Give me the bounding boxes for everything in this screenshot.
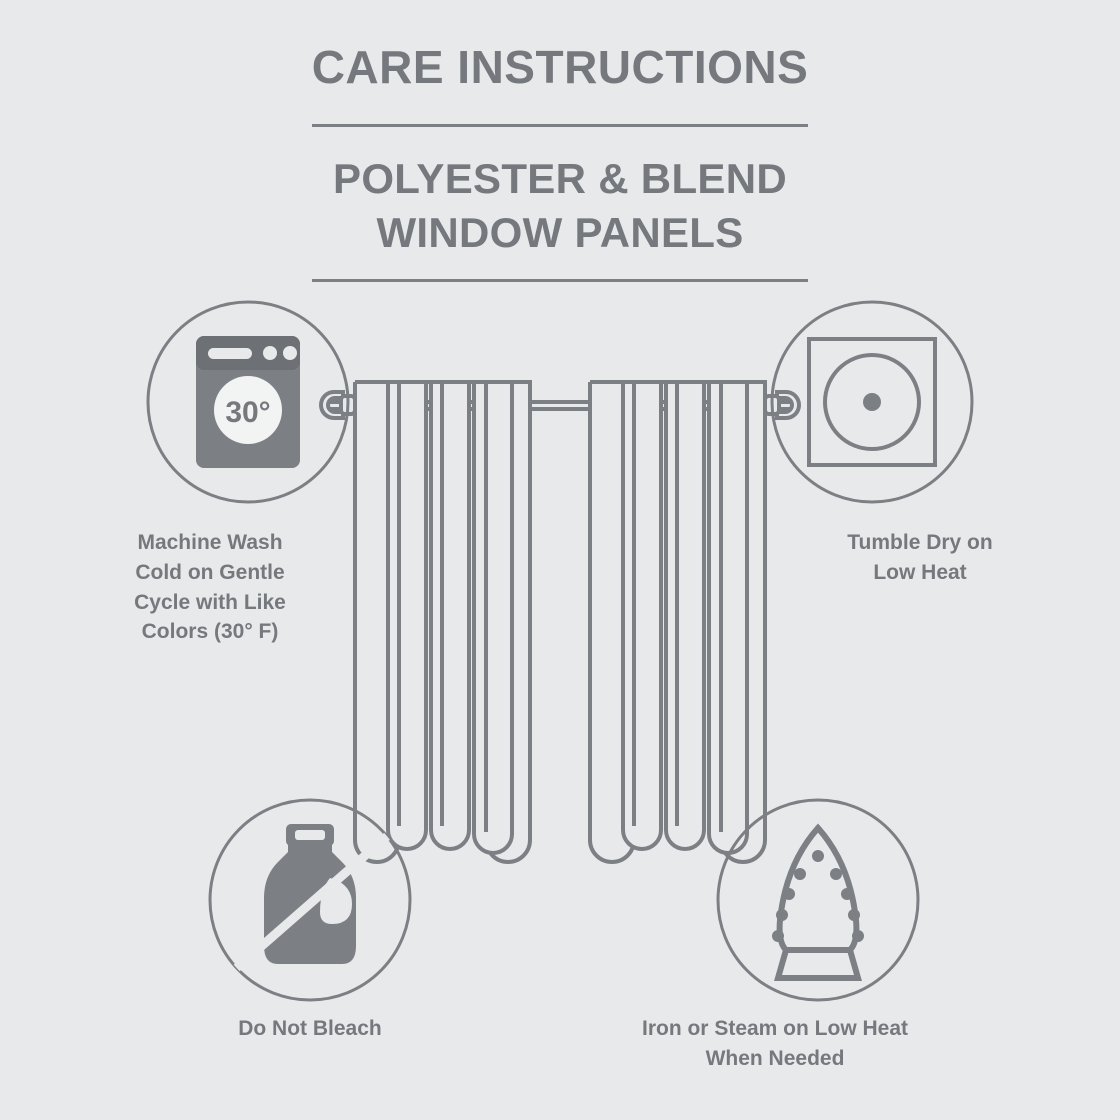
care-instructions-infographic: CARE INSTRUCTIONS POLYESTER & BLEND WIND…	[0, 0, 1120, 1120]
curtain-window-panels	[321, 382, 799, 862]
tumble-dryer-icon	[809, 339, 935, 465]
rod-finial-left	[321, 392, 355, 418]
caption-iron: Iron or Steam on Low Heat When Needed	[600, 1014, 950, 1074]
tumble-dry-symbol	[772, 302, 972, 502]
wash-temperature-label: 30°	[225, 396, 270, 429]
iron-symbol	[718, 800, 918, 1000]
washing-machine-icon: 30°	[196, 336, 300, 468]
rod-finial-right	[765, 392, 799, 418]
right-curtain-panel	[590, 382, 765, 862]
iron-icon	[772, 828, 864, 978]
caption-do-not-bleach: Do Not Bleach	[175, 1014, 445, 1044]
caption-tumble-dry: Tumble Dry on Low Heat	[790, 528, 1050, 588]
caption-machine-wash: Machine Wash Cold on Gentle Cycle with L…	[75, 528, 345, 647]
left-curtain-panel	[355, 382, 530, 862]
machine-wash-symbol: 30°	[148, 302, 348, 502]
do-not-bleach-symbol	[210, 800, 410, 1000]
